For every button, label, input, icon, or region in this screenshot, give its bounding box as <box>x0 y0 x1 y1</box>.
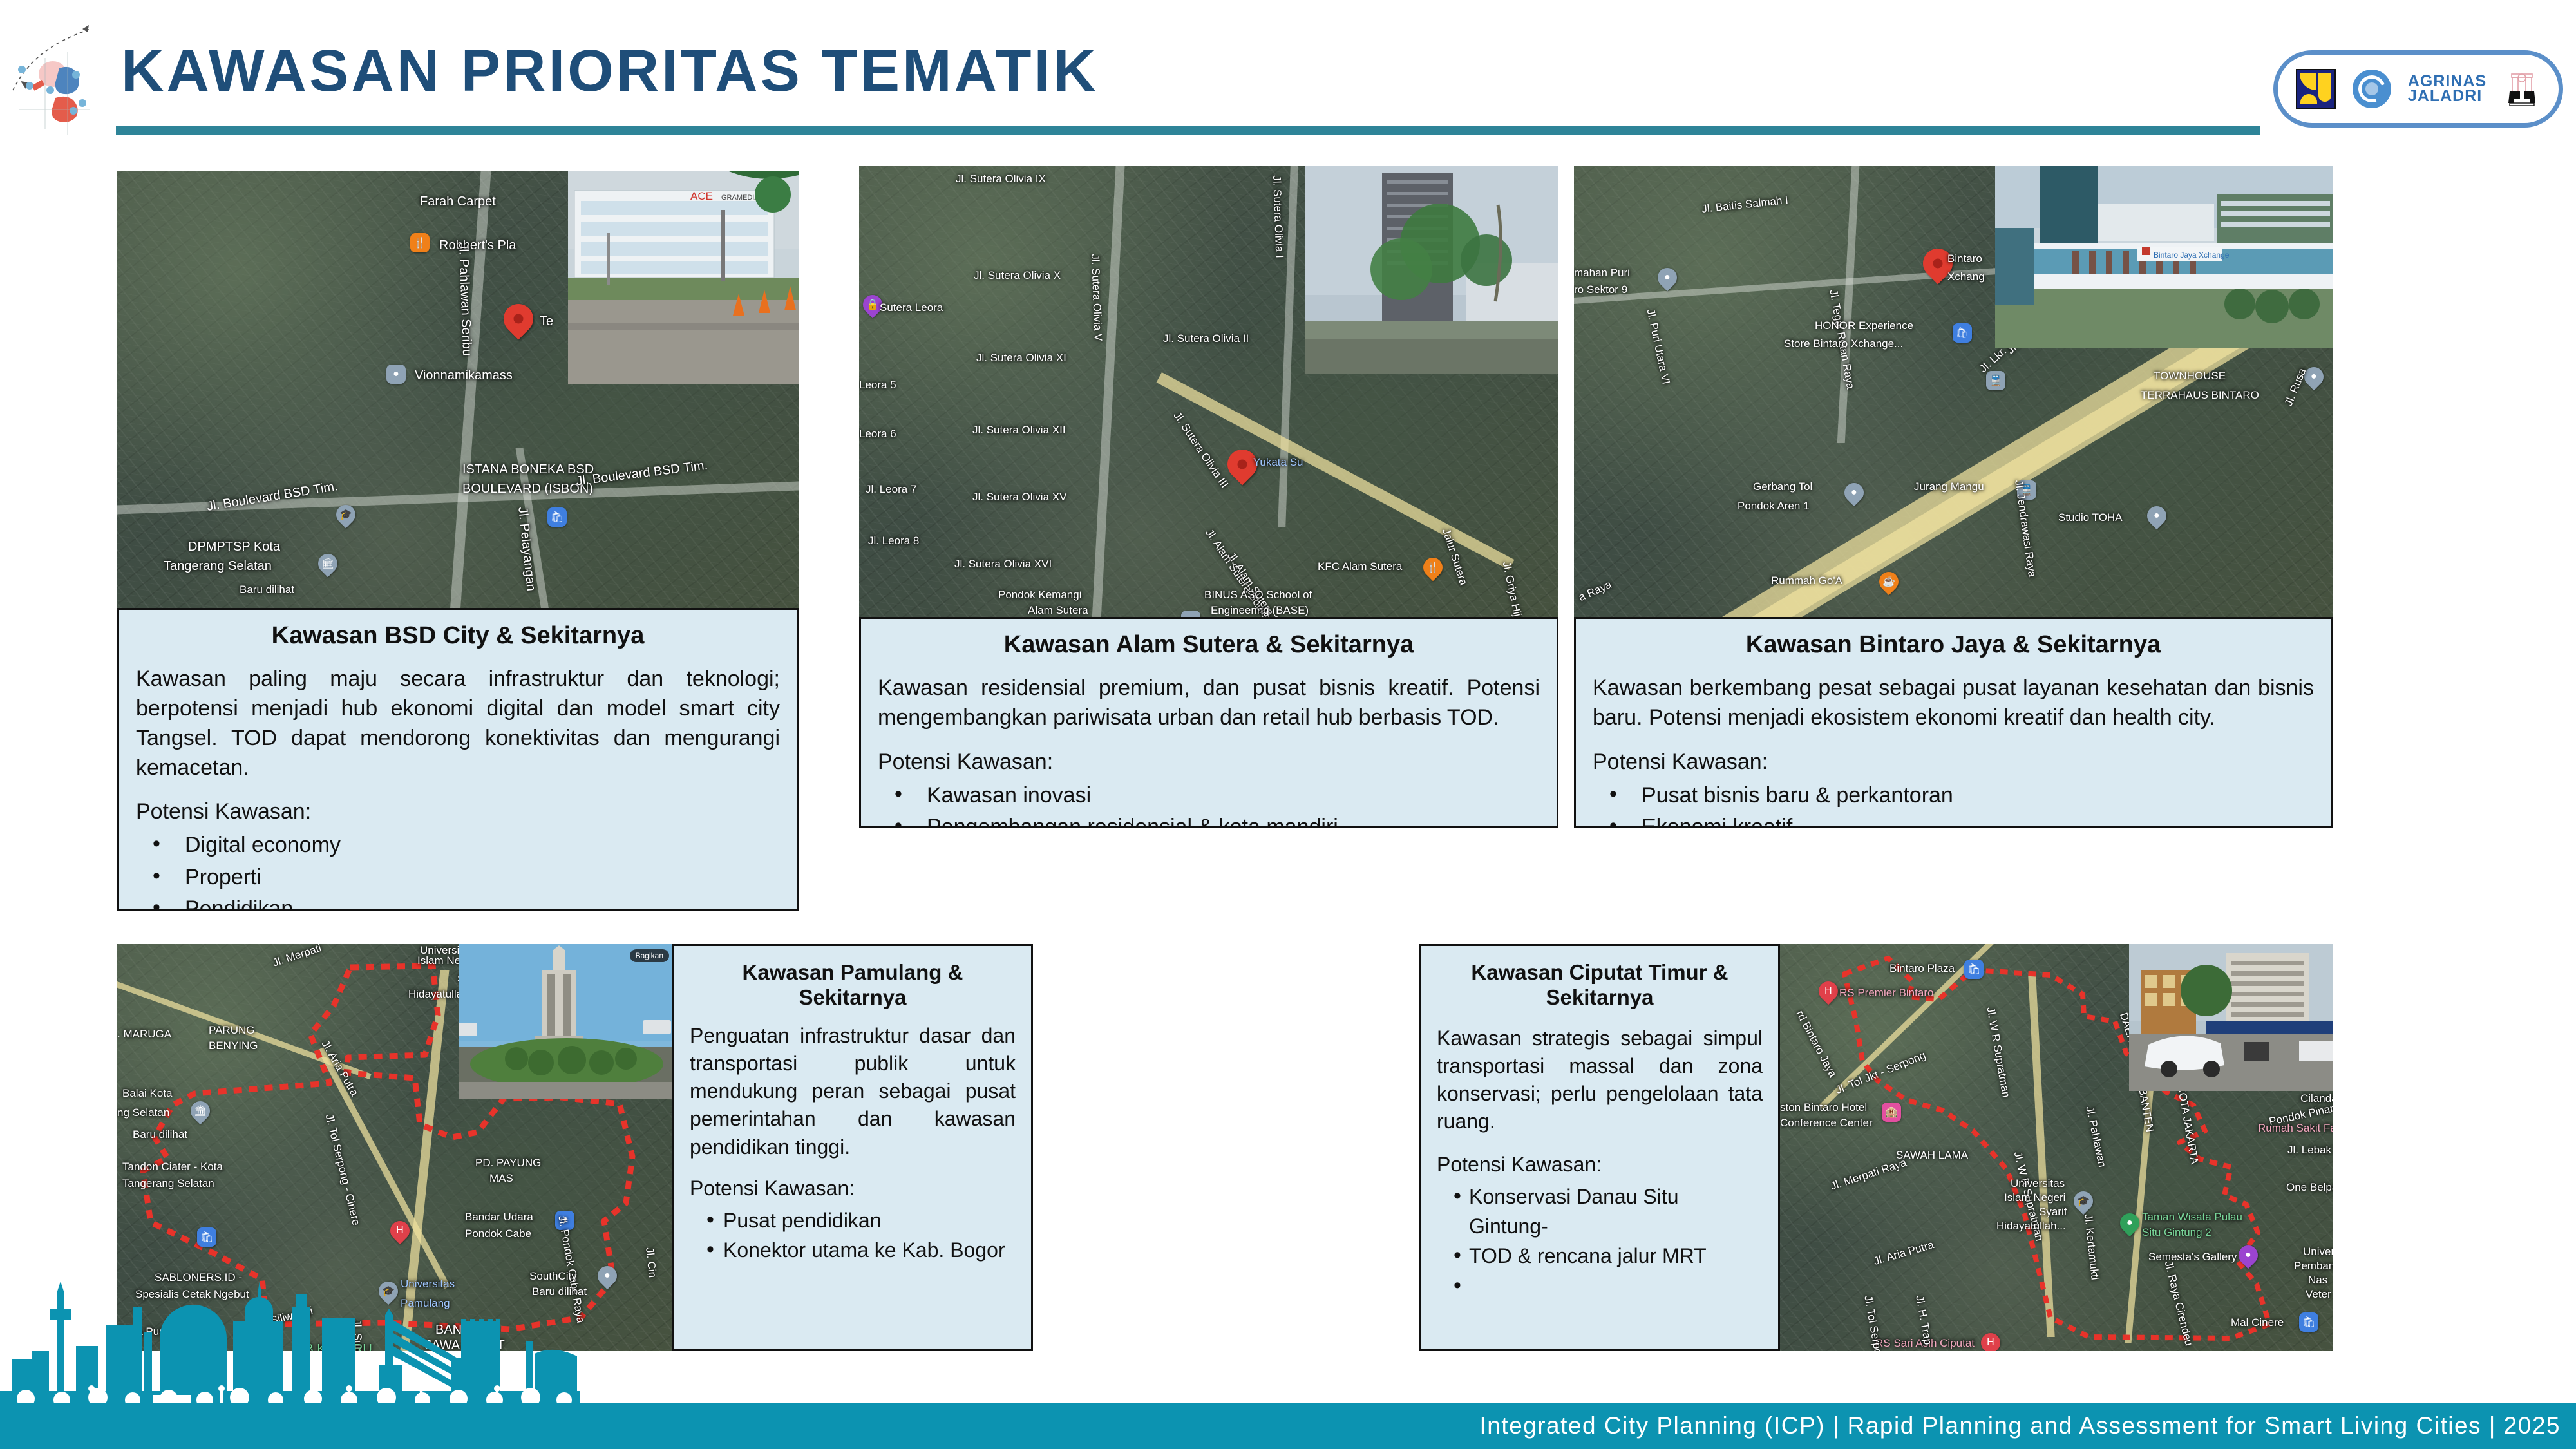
map-bintaro[interactable]: Jl. Baitis Salmah I mahan Puri ro Sektor… <box>1574 166 2333 621</box>
slide-root: KAWASAN PRIORITAS TEMATIK AGRINAS JALADR… <box>0 0 2576 1449</box>
map-label: Jl. Leora 7 <box>866 483 916 496</box>
card-title: Kawasan Bintaro Jaya & Sekitarnya <box>1593 630 2314 659</box>
map-label: KFC Alam Sutera <box>1318 560 1402 573</box>
potensi-label: Potensi Kawasan: <box>1437 1153 1763 1177</box>
agrinas-jaladri-wordmark: AGRINAS JALADRI <box>2408 74 2486 104</box>
title-underline-rule <box>116 126 2260 135</box>
street-view-photo <box>1305 166 1558 374</box>
map-label: Farah Carpet <box>420 194 496 209</box>
card-title: Kawasan Alam Sutera & Sekitarnya <box>878 630 1540 659</box>
map-label: Te <box>540 314 553 329</box>
potensi-label: Potensi Kawasan: <box>690 1177 1016 1200</box>
shopping-icon[interactable]: 🛍 <box>547 507 567 527</box>
map-label: RS Premier Bintaro <box>1839 987 1933 999</box>
map-label: mahan Puri <box>1574 267 1630 279</box>
map-ciputat-timur[interactable]: 🛍 Bintaro Plaza H RS Premier Bintaro rd … <box>1780 944 2333 1351</box>
list-item: Pusat bisnis baru & perkantoran <box>1593 780 2314 811</box>
card-title: Kawasan Pamulang & Sekitarnya <box>690 960 1016 1010</box>
map-label: Jl. Leora 8 <box>868 535 919 547</box>
potensi-label: Potensi Kawasan: <box>878 750 1540 775</box>
card-description: Kawasan berkembang pesat sebagai pusat l… <box>1593 674 2314 733</box>
map-label: Jl. Sutera Olivia XVI <box>954 558 1052 571</box>
potensi-label: Potensi Kawasan: <box>1593 750 2314 775</box>
map-label: Tangerang Selatan <box>164 559 272 574</box>
map-label: Nas <box>2308 1274 2327 1287</box>
map-label: Balai Kota <box>122 1087 173 1100</box>
map-label: Mal Cinere <box>2231 1316 2284 1329</box>
card-description: Kawasan paling maju secara infrastruktur… <box>136 665 780 783</box>
agrinas-jaladri-fish-icon <box>2353 70 2391 108</box>
map-label: Situ Gintung 2 <box>2142 1226 2211 1239</box>
card-title: Kawasan Ciputat Timur & Sekitarnya <box>1437 960 1763 1010</box>
map-label: Pondok Kemangi <box>998 589 1081 601</box>
map-label: Islam Negeri <box>2004 1191 2065 1204</box>
map-label: Semesta's Gallery <box>2148 1251 2237 1264</box>
card-description: Penguatan infrastruktur dasar dan transp… <box>690 1022 1016 1161</box>
map-label: Engineering (BASE) <box>1211 604 1309 617</box>
map-label: Universitas <box>2011 1177 2065 1190</box>
map-label: Rumah Sakit Fat <box>2258 1122 2333 1135</box>
map-label: ng Selatan <box>117 1106 169 1119</box>
map-label: Jl. Sutera Olivia X <box>974 269 1061 282</box>
place-icon[interactable]: ● <box>386 365 406 384</box>
map-label: ston Bintaro Hotel <box>1780 1101 1867 1114</box>
potensi-list: Pusat pendidikan Konektor utama ke Kab. … <box>690 1206 1016 1265</box>
map-label: Jl. Sutera Olivia XI <box>976 352 1066 365</box>
list-item: Properti <box>136 862 780 893</box>
map-label: TERRAHAUS BINTARO <box>2141 389 2259 402</box>
card-alam-sutera: Kawasan Alam Sutera & Sekitarnya Kawasan… <box>859 617 1558 828</box>
train-icon[interactable]: 🚆 <box>1986 371 2005 390</box>
city-skyline-decoration <box>0 1282 580 1410</box>
map-label: Studio TOHA <box>2058 511 2123 524</box>
map-label: ISTANA BONEKA BSD <box>462 462 594 477</box>
card-bsd: Kawasan BSD City & Sekitarnya Kawasan pa… <box>117 608 799 911</box>
card-ciputat-timur: Kawasan Ciputat Timur & Sekitarnya Kawas… <box>1419 944 1780 1351</box>
map-label: Jl. Sutera Olivia XV <box>972 491 1066 504</box>
map-bsd[interactable]: Farah Carpet 🍴 Robbert's Pla Jl. Pahlawa… <box>117 171 799 622</box>
map-label: Yukata Su <box>1253 456 1303 469</box>
map-label: Baru dilihat <box>240 583 294 596</box>
street-view-photo: ACE GRAMEDIA CGV <box>568 171 799 384</box>
street-view-photo: Bintaro Jaya Xchange <box>1995 166 2333 348</box>
list-item: Konektor utama ke Kab. Bogor <box>690 1235 1016 1265</box>
map-label: . MARUGA <box>117 1028 171 1041</box>
hotel-icon[interactable]: 🏨 <box>1882 1103 1901 1122</box>
map-label: Alam Sutera <box>1028 604 1088 617</box>
potensi-list: Digital economy Properti Pendidikan Perk… <box>136 829 780 911</box>
map-label: PD. PAYUNG <box>475 1157 541 1170</box>
map-label: Univer <box>2303 1245 2333 1258</box>
page-title: KAWASAN PRIORITAS TEMATIK <box>121 37 1098 105</box>
map-label: Baru dilihat <box>133 1128 187 1141</box>
potensi-list: Kawasan inovasi Pengembangan residensial… <box>878 780 1540 828</box>
map-label: Tandon Ciater - Kota <box>122 1160 223 1173</box>
map-label: TOWNHOUSE <box>2154 370 2226 383</box>
street-view-photo: Bagikan <box>459 944 674 1099</box>
map-label: Veter <box>2306 1288 2331 1301</box>
map-label: Store Bintaro Xchange... <box>1784 337 1903 350</box>
map-label: SAWAH LAMA <box>1896 1149 1968 1162</box>
card-description: Kawasan strategis sebagai simpul transpo… <box>1437 1025 1763 1136</box>
kementerian-pu-logo-icon <box>2296 69 2336 109</box>
map-label: Xchang <box>1947 270 1985 283</box>
list-item: Digital economy <box>136 829 780 861</box>
shopping-icon[interactable]: 🛍 <box>1953 323 1972 343</box>
shopping-icon[interactable]: 🛍 <box>2299 1312 2318 1332</box>
map-label: Hidayatullah... <box>1996 1220 2066 1233</box>
footer-text: Integrated City Planning (ICP) | Rapid P… <box>1479 1412 2561 1439</box>
logo-group: AGRINAS JALADRI <box>2273 50 2563 128</box>
map-label: Vionnamikamass <box>415 368 513 383</box>
share-button[interactable]: Bagikan <box>630 949 669 962</box>
street-view-photo <box>2129 944 2333 1091</box>
map-label: Jl. Sutera Olivia II <box>1163 332 1249 345</box>
map-label: Leora 5 <box>859 379 896 392</box>
svg-text:GRAMEDIA: GRAMEDIA <box>721 194 759 202</box>
card-bintaro: Kawasan Bintaro Jaya & Sekitarnya Kawasa… <box>1574 617 2333 828</box>
map-label: Jl. Lebak Bul <box>2287 1144 2333 1157</box>
map-label: Gerbang Tol <box>1753 480 1812 493</box>
map-label: HONOR Experience <box>1815 319 1913 332</box>
partner-logo-icon <box>2503 70 2541 108</box>
map-label: Jurang Mangu <box>1914 480 1984 493</box>
restaurant-icon[interactable]: 🍴 <box>410 233 430 252</box>
map-label: BINUS ASO School of <box>1204 589 1312 601</box>
map-label: Jl. Sutera Olivia IX <box>956 173 1046 185</box>
map-label: MAS <box>489 1172 513 1185</box>
shopping-icon[interactable]: 🛍 <box>1964 960 1984 979</box>
map-label: DPMPTSP Kota <box>188 540 280 554</box>
map-label: Pembang <box>2294 1260 2333 1273</box>
footer-bar: Integrated City Planning (ICP) | Rapid P… <box>0 1403 2576 1449</box>
map-label: One Belpa <box>2286 1181 2333 1194</box>
list-item: Pendidikan <box>136 893 780 911</box>
agrinas-line-2: JALADRI <box>2408 89 2486 104</box>
potensi-label: Potensi Kawasan: <box>136 799 780 824</box>
header-decoration-icon <box>6 13 103 138</box>
map-label: SouthCity <box>529 1270 577 1283</box>
list-item: Kawasan inovasi <box>878 780 1540 811</box>
map-label: Syarif <box>2039 1206 2067 1218</box>
map-label: Bandar Udara <box>465 1211 533 1224</box>
list-item: Pengembangan residensial & kota mandiri <box>878 811 1540 828</box>
svg-text:ACE: ACE <box>690 190 713 202</box>
map-label: Taman Wisata Pulau <box>2142 1211 2242 1224</box>
map-label: BENYING <box>209 1039 258 1052</box>
potensi-list: Pusat bisnis baru & perkantoran Ekonomi … <box>1593 780 2314 828</box>
list-item: Ekonomi kreatif <box>1593 811 2314 828</box>
map-label: Bintaro Plaza <box>1889 962 1955 975</box>
map-label: Leora 6 <box>859 428 896 440</box>
map-label: Robbert's Pla <box>439 238 516 253</box>
map-label: Jl. Sutera Olivia XII <box>972 424 1066 437</box>
map-label: Bintaro <box>1947 252 1982 265</box>
map-label: PARUNG <box>209 1024 254 1037</box>
map-label: Rummah Go'A <box>1771 574 1842 587</box>
map-label: Tangerang Selatan <box>122 1177 214 1190</box>
map-label: Conference Center <box>1780 1117 1873 1130</box>
card-title: Kawasan BSD City & Sekitarnya <box>136 621 780 650</box>
map-label: Pondok Cabe <box>465 1227 531 1240</box>
map-label: BOULEVARD (ISBON) <box>462 482 593 497</box>
list-item: Konservasi Danau Situ Gintung- <box>1437 1182 1763 1242</box>
svg-text:Bintaro Jaya Xchange: Bintaro Jaya Xchange <box>2154 251 2230 260</box>
map-label: Sutera Leora <box>880 301 943 314</box>
map-label: ro Sektor 9 <box>1574 283 1627 296</box>
map-label: Pondok Aren 1 <box>1738 500 1810 513</box>
list-item: TOD & rencana jalur MRT <box>1437 1241 1763 1271</box>
potensi-list: Konservasi Danau Situ Gintung- TOD & ren… <box>1437 1182 1763 1271</box>
list-item: Pusat pendidikan <box>690 1206 1016 1235</box>
card-description: Kawasan residensial premium, dan pusat b… <box>878 674 1540 733</box>
shopping-icon[interactable]: 🛍 <box>197 1227 216 1247</box>
card-pamulang: Kawasan Pamulang & Sekitarnya Penguatan … <box>672 944 1033 1351</box>
map-alam-sutera[interactable]: Jl. Sutera Olivia IX Jl. Sutera Olivia X… <box>859 166 1558 621</box>
